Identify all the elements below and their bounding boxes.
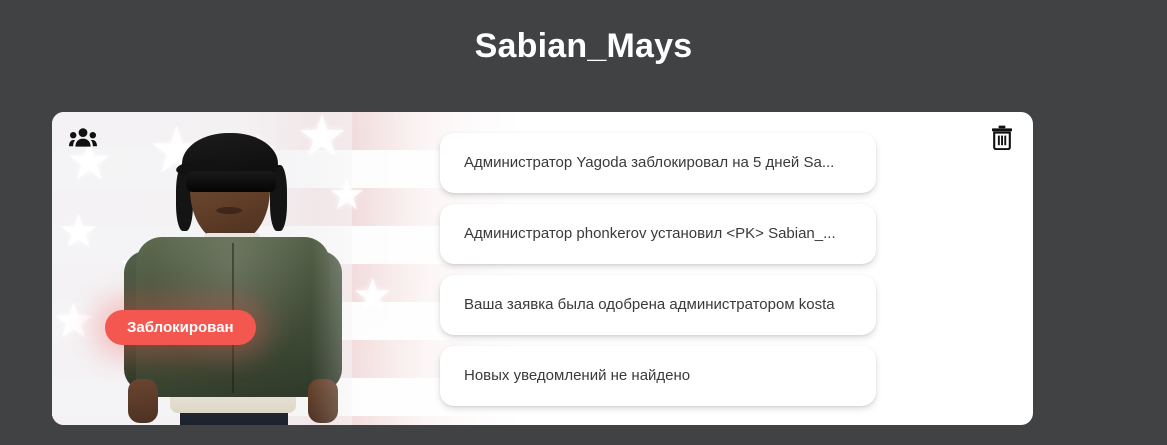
trash-icon [991,125,1013,150]
list-item[interactable]: Ваша заявка была одобрена администраторо… [440,275,876,335]
notification-text: Новых уведомлений не найдено [464,366,690,386]
flag-star: ★ [52,298,95,346]
avatar-hand-right [308,379,338,423]
status-badge: Заблокирован [105,310,256,345]
list-item[interactable]: Администратор phonkerov установил <PK> S… [440,204,876,264]
members-button[interactable] [66,122,100,152]
page-title: Sabian_Mays [0,0,1167,66]
avatar-sunglasses [186,171,276,192]
list-item[interactable]: Администратор Yagoda заблокировал на 5 д… [440,133,876,193]
delete-button[interactable] [985,122,1019,152]
notification-text: Администратор phonkerov установил <PK> S… [464,224,836,244]
flag-star: ★ [352,272,393,318]
avatar-mouth [216,207,242,214]
list-item[interactable]: Новых уведомлений не найдено [440,346,876,406]
users-icon [69,128,97,147]
avatar [118,125,348,425]
notifications-list: Администратор Yagoda заблокировал на 5 д… [440,133,876,406]
notification-text: Ваша заявка была одобрена администраторо… [464,295,835,315]
notification-text: Администратор Yagoda заблокировал на 5 д… [464,153,834,173]
profile-panel: ★ ★ ★ ★ ★ ★ ★ ★ ★ ★ ★ ★ Забл [52,112,1033,425]
avatar-hand-left [128,379,158,423]
flag-star: ★ [58,208,99,254]
